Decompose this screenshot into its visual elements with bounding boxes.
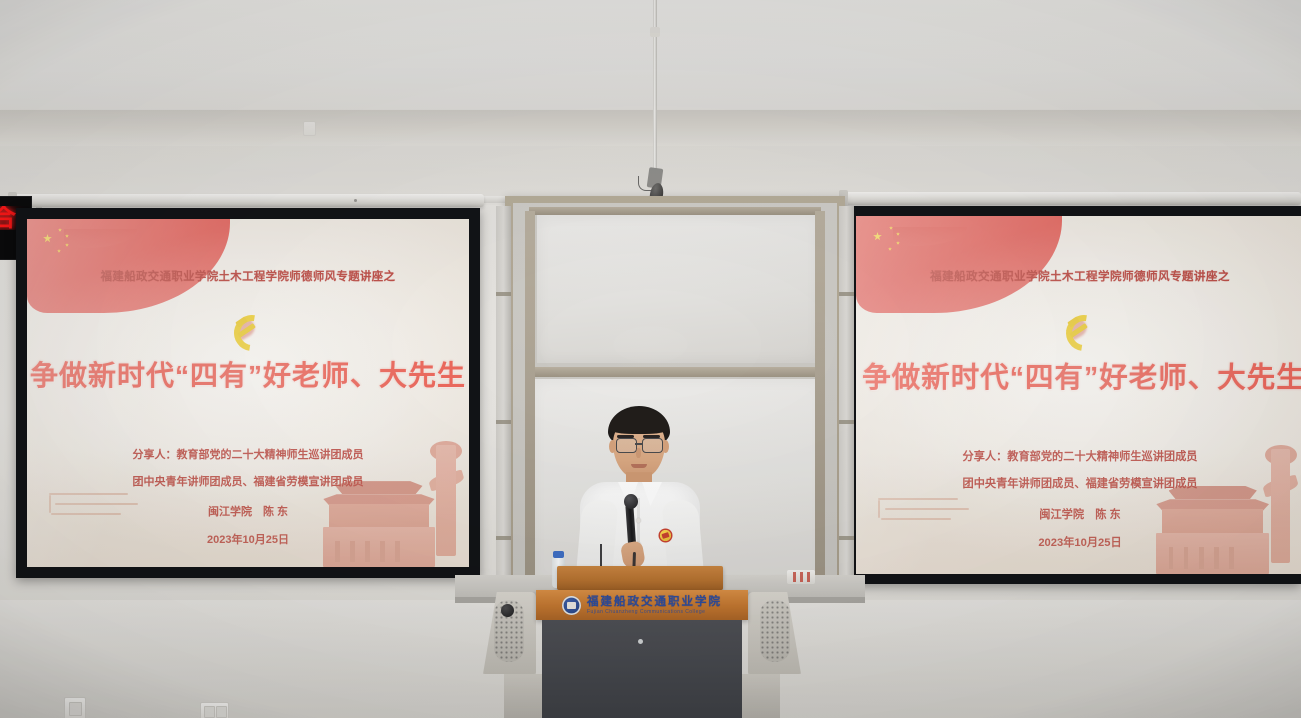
podium-indicator-light (638, 639, 643, 644)
slide-header-text: 福建船政交通职业学院土木工程学院师德师风专题讲座之 (27, 268, 469, 284)
whiteboard-rail-right (815, 211, 825, 585)
podium-nameplate: 福建船政交通职业学院 Fujian Chuanzheng Communicati… (536, 590, 748, 620)
ceiling-upper-wall (0, 0, 1301, 118)
wall-light-switch[interactable] (64, 697, 86, 718)
eyeglasses-icon (616, 438, 637, 453)
school-logo-icon (562, 596, 581, 615)
slide-subtitle-line1: 分享人：教育部党的二十大精神师生巡讲团成员 (27, 446, 469, 462)
screen-roller-right (843, 192, 1301, 205)
slide-presenter: 闽江学院 陈 东 (856, 506, 1301, 522)
slide-subtitle-line2: 团中央青年讲师团成员、福建省劳模宣讲团成员 (27, 473, 469, 489)
chinese-flag-banner-icon (856, 216, 1062, 313)
party-emblem-lapel-pin-icon (660, 530, 671, 541)
whiteboard-side-track-left (496, 206, 511, 578)
slide-left: 福建船政交通职业学院土木工程学院师德师风专题讲座之 争做新时代“四有”好老师、大… (27, 219, 469, 567)
ccp-party-emblem-icon (1065, 314, 1095, 340)
projection-screen-left: 福建船政交通职业学院土木工程学院师德师风专题讲座之 争做新时代“四有”好老师、大… (16, 208, 480, 578)
whiteboard-rail-left (525, 211, 535, 585)
slide-right: 福建船政交通职业学院土木工程学院师德师风专题讲座之 争做新时代“四有”好老师、大… (856, 216, 1301, 574)
podium-control-knob[interactable] (501, 604, 514, 617)
presenter-nose (636, 448, 641, 458)
slide-presenter: 闽江学院 陈 东 (27, 503, 469, 519)
ceiling-fixture-plate (303, 121, 316, 136)
podium-column (542, 674, 742, 718)
school-name-cn: 福建船政交通职业学院 (587, 596, 722, 608)
slide-main-title: 争做新时代“四有”好老师、大先生 (860, 355, 1301, 396)
ccp-party-emblem-icon (233, 314, 263, 340)
flag-wave (893, 227, 967, 246)
ceiling-beam (0, 110, 1301, 148)
chinese-flag-banner-icon (27, 219, 230, 313)
water-bottle-cap (553, 551, 564, 558)
ceiling-mic-joint (650, 27, 660, 37)
presenter-ear (609, 440, 616, 453)
whiteboard-rail-top (529, 207, 821, 215)
podium-leg-right (736, 674, 780, 718)
school-name-en: Fujian Chuanzheng Communications College (587, 610, 722, 615)
slide-subtitle-line1: 分享人：教育部党的二十大精神师生巡讲团成员 (856, 448, 1301, 464)
slide-header-text: 福建船政交通职业学院土木工程学院师德师风专题讲座之 (856, 268, 1301, 284)
whiteboard-side-track-right (839, 206, 854, 578)
screen-roller-left (12, 194, 484, 207)
slide-subtitle-line2: 团中央青年讲师团成员、福建省劳模宣讲团成员 (856, 475, 1301, 491)
handheld-microphone-head (624, 494, 638, 509)
slide-main-title: 争做新时代“四有”好老师、大先生 (27, 354, 469, 394)
podium-wooden-top (557, 566, 723, 590)
presenter-ear (662, 440, 669, 453)
eyeglasses-icon (642, 438, 663, 453)
slide-date: 2023年10月25日 (856, 534, 1301, 550)
lecture-hall-photo: 合 (0, 0, 1301, 718)
flag-wave (64, 229, 137, 248)
roller-indicator (354, 199, 357, 202)
presenter-mouth (631, 464, 647, 468)
slide-date: 2023年10月25日 (27, 531, 469, 547)
podium-front-panel (542, 620, 742, 676)
projection-screen-right: 福建船政交通职业学院土木工程学院师德师风专题讲座之 争做新时代“四有”好老师、大… (847, 206, 1301, 584)
whiteboard-rail (529, 367, 821, 377)
shirt-button (636, 518, 641, 523)
whiteboard-panel-upper (537, 215, 819, 363)
eyeglasses-bridge (635, 443, 642, 445)
podium-speaker-grille-right (760, 600, 790, 662)
wall-socket-plate[interactable] (200, 702, 229, 718)
lectern-podium: 福建船政交通职业学院 Fujian Chuanzheng Communicati… (483, 566, 801, 718)
